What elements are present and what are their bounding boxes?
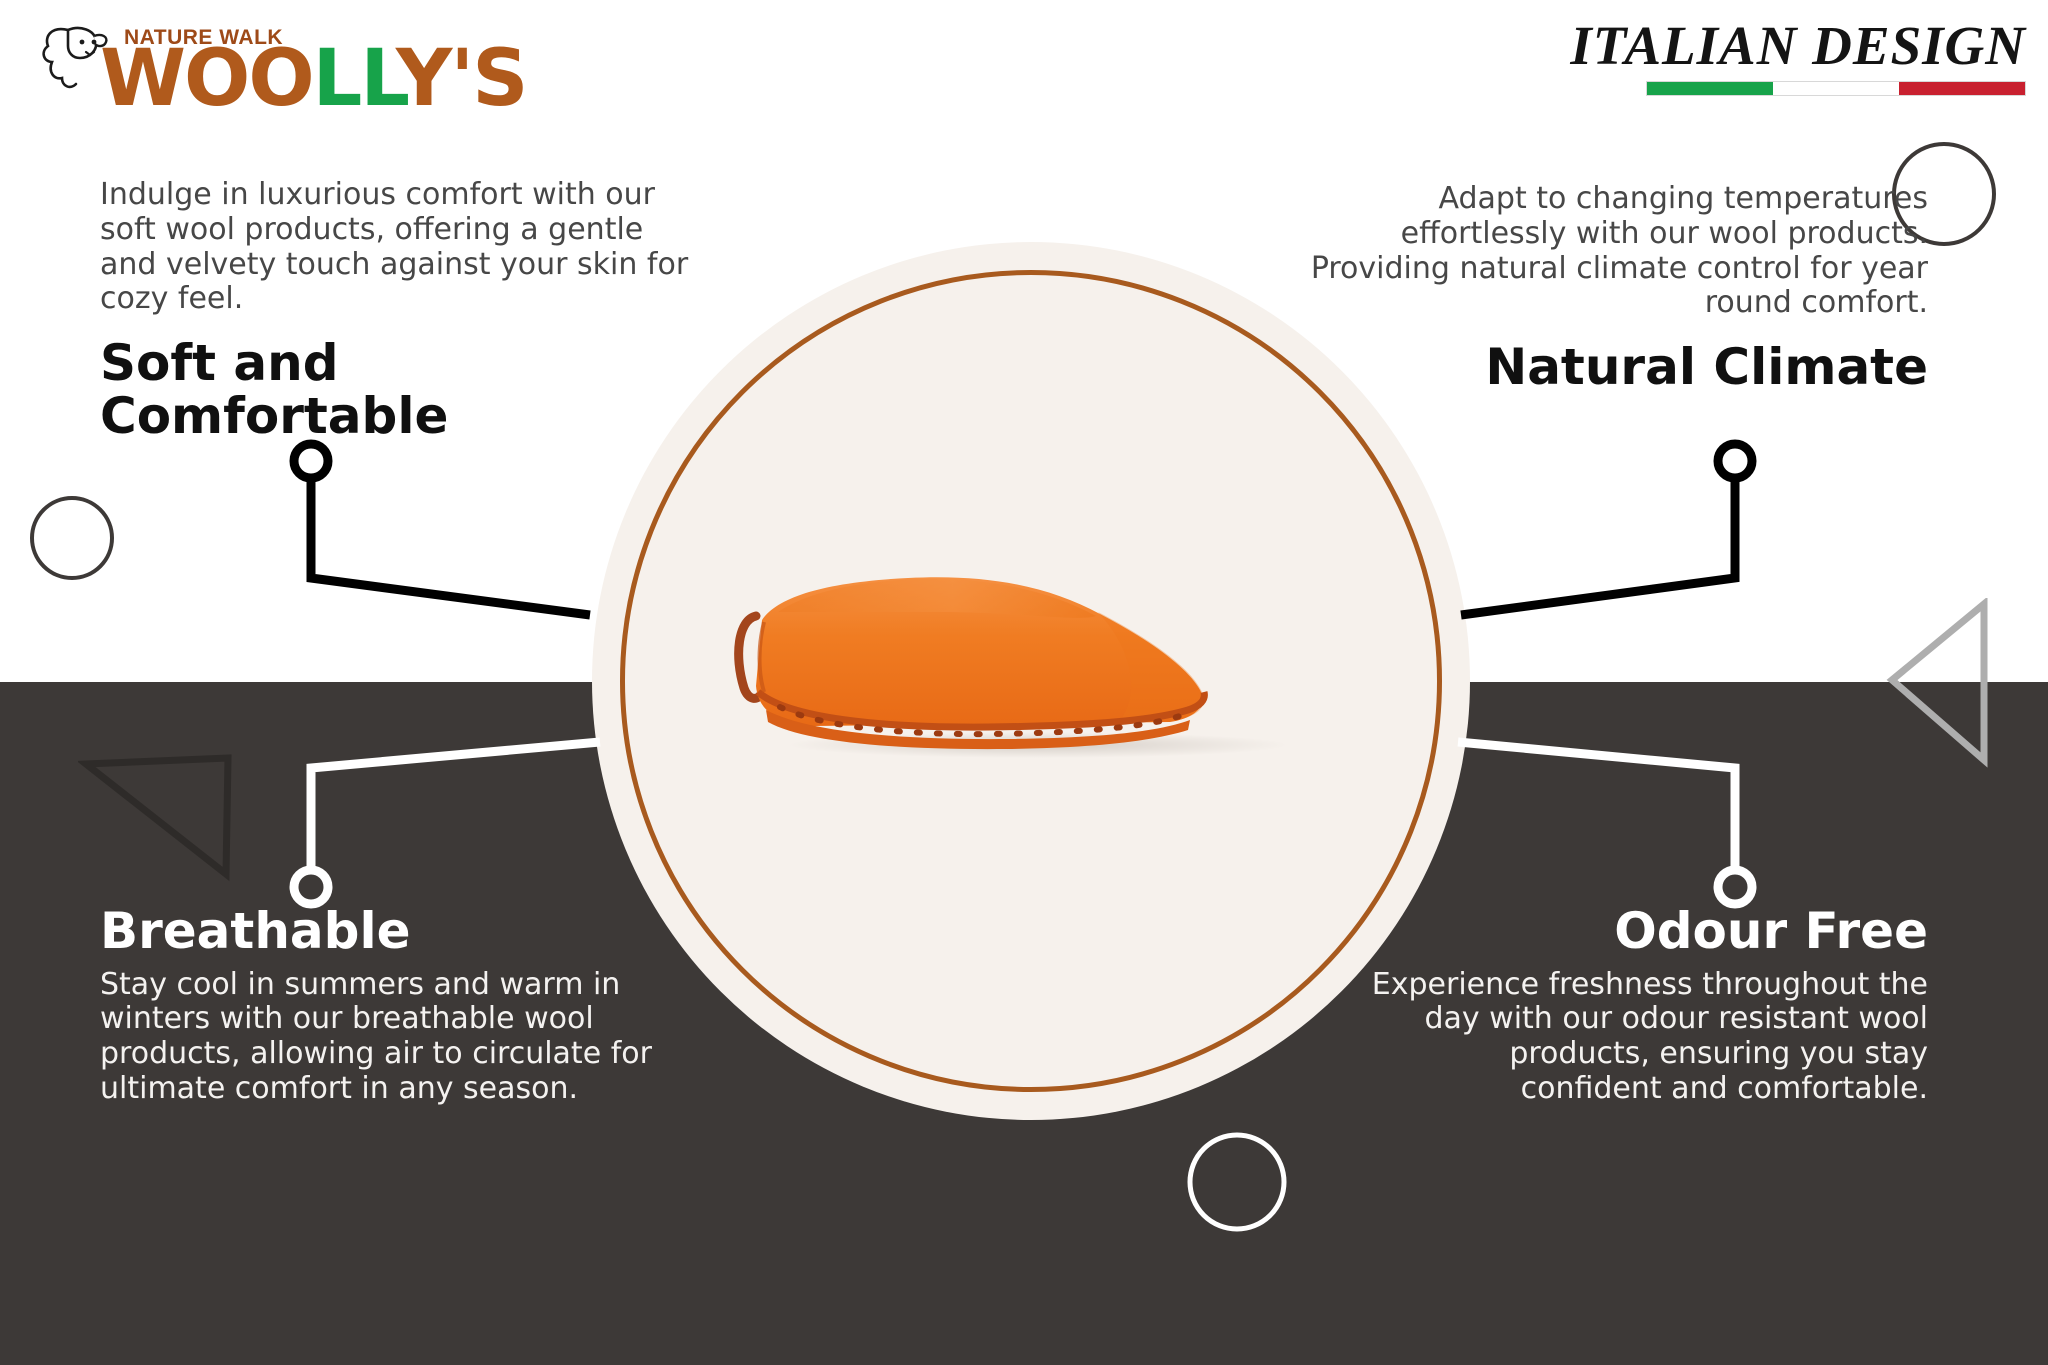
- feature-natural-climate: Adapt to changing temperatures effortles…: [1308, 182, 1928, 394]
- connector-odour-free: [1458, 742, 1752, 904]
- feature-body: Experience freshness throughout the day …: [1368, 968, 1928, 1107]
- connector-soft-and-comfortable: [294, 444, 590, 615]
- connector-breathable: [294, 742, 600, 904]
- feature-title: Natural Climate: [1308, 341, 1928, 394]
- feature-body: Stay cool in summers and warm in winters…: [100, 968, 660, 1107]
- connector-node-natural-climate: [1718, 444, 1752, 478]
- feature-body: Indulge in luxurious comfort with our so…: [100, 178, 690, 317]
- connector-node-soft-and-comfortable: [294, 444, 328, 478]
- connector-node-breathable: [294, 870, 328, 904]
- feature-title: Breathable: [100, 905, 660, 958]
- feature-odour-free: Odour Free Experience freshness througho…: [1368, 905, 1928, 1107]
- feature-title: Odour Free: [1368, 905, 1928, 958]
- feature-title: Soft and Comfortable: [100, 337, 690, 442]
- connector-node-odour-free: [1718, 870, 1752, 904]
- feature-soft-and-comfortable: Indulge in luxurious comfort with our so…: [100, 178, 690, 442]
- feature-body: Adapt to changing temperatures effortles…: [1308, 182, 1928, 321]
- feature-breathable: Breathable Stay cool in summers and warm…: [100, 905, 660, 1107]
- connector-natural-climate: [1461, 444, 1752, 615]
